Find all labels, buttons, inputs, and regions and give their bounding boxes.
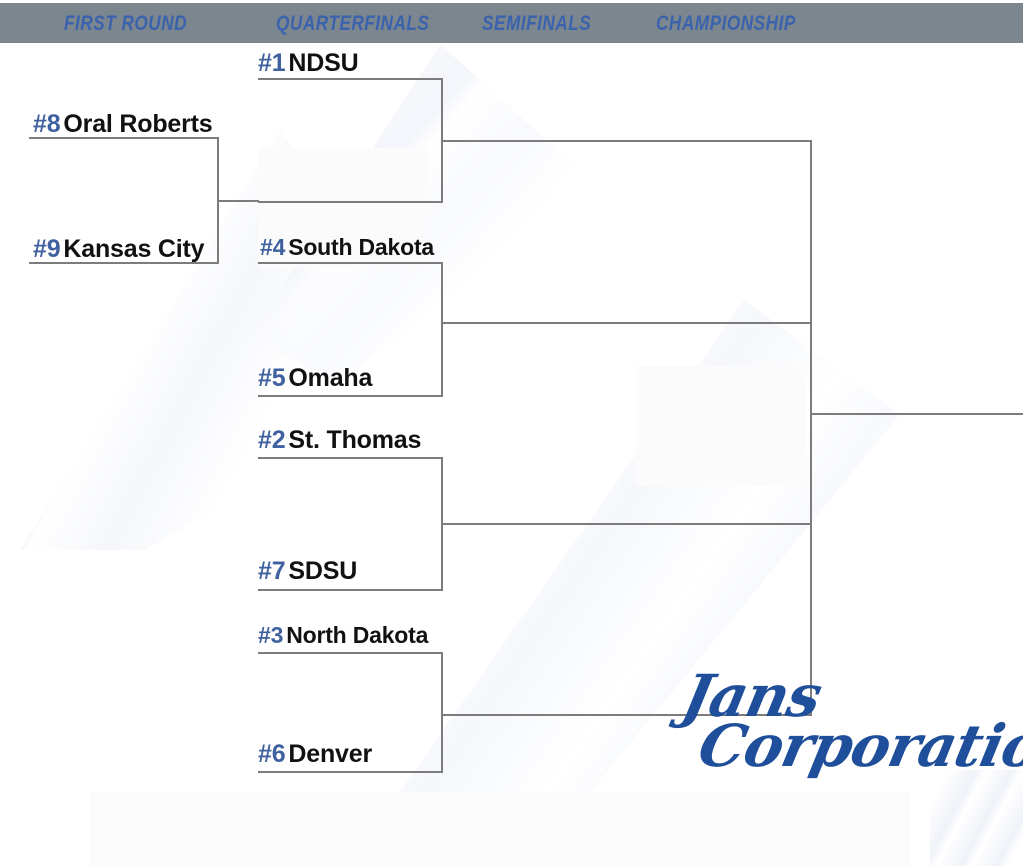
semifinal-slot-2 <box>632 294 635 323</box>
seed-label: #4 <box>260 234 285 260</box>
first-round-team-8: #8Oral Roberts <box>33 110 212 139</box>
quarterfinal-team-2: #2St. Thomas <box>258 426 421 455</box>
team-name-label: NDSU <box>288 49 358 77</box>
championship-advance-line <box>810 413 1023 415</box>
watermark-bottom-panel <box>90 792 910 866</box>
quarterfinal-team-6: #6Denver <box>258 740 372 769</box>
team-name-label: South Dakota <box>288 234 434 260</box>
qf1-bottom-slot-line <box>258 201 443 203</box>
team-name-label: Omaha <box>288 364 372 392</box>
qf4-top-slot-line <box>258 652 443 654</box>
seed-label: #3 <box>258 622 283 648</box>
champion-slot <box>860 384 863 413</box>
qf1-advance-connector <box>441 140 630 142</box>
seed-label: #5 <box>258 364 285 392</box>
semifinal-slot-4 <box>632 686 635 715</box>
team-name-label: Oral Roberts <box>63 110 212 138</box>
quarterfinal-team-7: #7SDSU <box>258 557 357 586</box>
quarterfinal-team-3: #3North Dakota <box>258 622 428 649</box>
qf2-join-vertical <box>441 262 443 397</box>
seed-label: #1 <box>258 49 285 77</box>
seed-label: #8 <box>33 110 60 138</box>
team-name-label: North Dakota <box>286 622 428 648</box>
seed-label: #7 <box>258 557 285 585</box>
quarterfinal-team-5: #5Omaha <box>258 364 372 393</box>
bracket-page: FIRST ROUND QUARTERFINALS SEMIFINALS CHA… <box>0 0 1023 866</box>
championship-upper-vertical <box>810 234 812 416</box>
watermark-block-lower <box>636 366 806 486</box>
first-round-team-9: #9Kansas City <box>33 235 204 264</box>
team-name-label: St. Thomas <box>288 426 421 454</box>
qf1-top-slot-line <box>258 78 443 80</box>
watermark-swoosh-left <box>20 130 440 550</box>
qf4-bottom-slot-line <box>258 771 443 773</box>
round-label-first-round: FIRST ROUND <box>64 12 187 36</box>
logo-text-corporation: Corporation <box>693 712 1023 780</box>
qf3-bottom-slot-line <box>258 589 443 591</box>
team-name-label: Kansas City <box>63 235 204 263</box>
qf3-top-slot-line <box>258 457 443 459</box>
quarterfinal-team-4: #4South Dakota <box>260 234 434 261</box>
qf3-advance-connector <box>441 523 630 525</box>
seed-label: #2 <box>258 426 285 454</box>
sf1-bottom-slot-line <box>628 322 812 324</box>
qf2-advance-connector <box>441 322 630 324</box>
qf4-join-vertical <box>441 652 443 773</box>
semifinal-slot-1 <box>632 112 635 141</box>
round-label-quarterfinals: QUARTERFINALS <box>276 12 429 36</box>
quarterfinal-team-1: #1NDSU <box>258 49 358 78</box>
round-label-championship: CHAMPIONSHIP <box>656 12 796 36</box>
team-name-label: SDSU <box>288 557 357 585</box>
sf1-top-slot-line <box>628 140 812 142</box>
seed-label: #6 <box>258 740 285 768</box>
round-header-band: FIRST ROUND QUARTERFINALS SEMIFINALS CHA… <box>0 3 1023 43</box>
seed-label: #9 <box>33 235 60 263</box>
qf4-advance-connector <box>441 714 630 716</box>
watermark-swoosh-top <box>250 44 590 384</box>
qf2-top-slot-line <box>258 262 443 264</box>
championship-slot-1 <box>816 384 819 413</box>
jans-corporation-logo: Jans Corporation <box>676 656 956 786</box>
team-name-label: Denver <box>288 740 372 768</box>
semifinal-slot-3 <box>632 495 635 524</box>
first-round-advance-connector <box>217 200 259 202</box>
round-label-semifinals: SEMIFINALS <box>482 12 591 36</box>
qf2-bottom-slot-line <box>258 395 443 397</box>
sf2-top-slot-line <box>628 523 812 525</box>
